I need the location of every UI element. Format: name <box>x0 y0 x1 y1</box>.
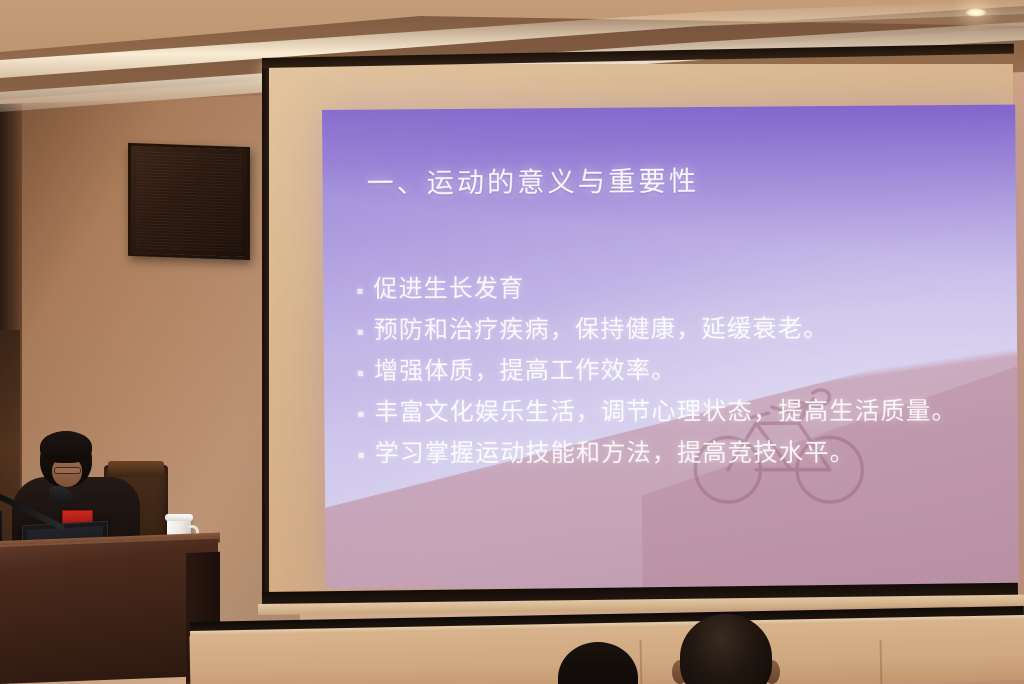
bullet-text: 增强体质，提高工作效率。 <box>374 354 677 389</box>
slide-bullet-list: 促进生长发育 预防和治疗疾病，保持健康，延缓衰老。 增强体质，提高工作效率。 丰… <box>357 270 1008 478</box>
chair-backrest <box>108 461 164 477</box>
list-item: 预防和治疗疾病，保持健康，延缓衰老。 <box>358 311 1007 350</box>
screen-left-post <box>262 62 269 596</box>
bullet-marker-icon <box>359 453 364 458</box>
glasses-icon <box>54 467 81 474</box>
photo-scene: 一、运动的意义与重要性 促进生长发育 预防和治疗疾病，保持健康，延缓衰老。 增强… <box>0 0 1024 684</box>
list-item: 丰富文化娱乐生活，调节心理状态，提高生活质量。 <box>358 395 1007 433</box>
bullet-marker-icon <box>358 330 363 335</box>
list-item: 促进生长发育 <box>357 270 1006 310</box>
list-item: 增强体质，提高工作效率。 <box>358 353 1007 392</box>
bullet-marker-icon <box>358 412 363 417</box>
bullet-marker-icon <box>357 289 362 294</box>
slide-title: 一、运动的意义与重要性 <box>366 159 699 200</box>
cup-lid <box>165 514 193 521</box>
bullet-text: 学习掌握运动技能和方法，提高竞技水平。 <box>375 436 856 471</box>
downlight-icon-right <box>965 8 987 17</box>
bullet-text: 促进生长发育 <box>373 272 524 307</box>
bullet-text: 预防和治疗疾病，保持健康，延缓衰老。 <box>374 312 829 348</box>
presenter-hair <box>40 431 92 463</box>
list-item: 学习掌握运动技能和方法，提高竞技水平。 <box>359 436 1008 474</box>
wall-speaker <box>128 143 250 260</box>
bullet-text: 丰富文化娱乐生活，调节心理状态，提高生活质量。 <box>374 395 957 430</box>
projected-slide: 一、运动的意义与重要性 促进生长发育 预防和治疗疾病，保持健康，延缓衰老。 增强… <box>322 105 1019 590</box>
bullet-marker-icon <box>358 371 363 376</box>
